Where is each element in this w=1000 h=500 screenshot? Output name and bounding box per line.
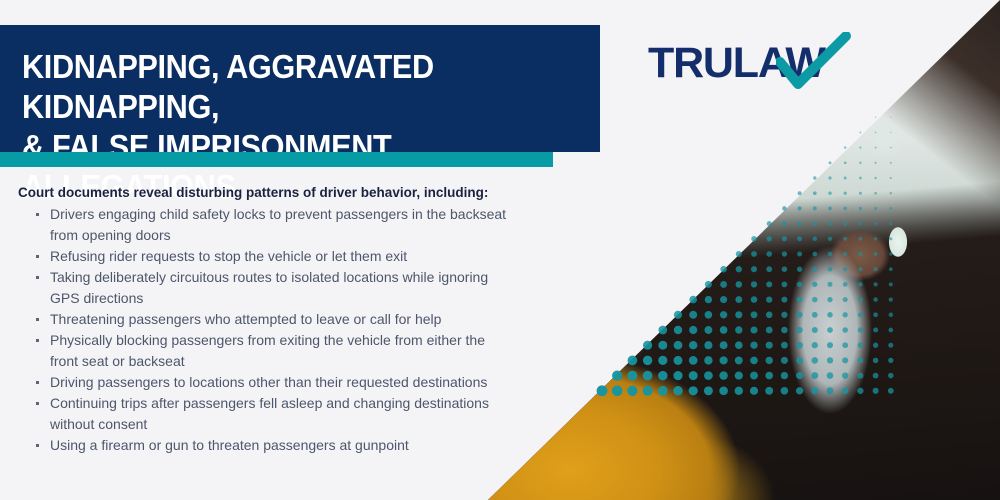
allegation-bullet-list: Drivers engaging child safety locks to p… xyxy=(18,204,513,456)
lead-paragraph: Court documents reveal disturbing patter… xyxy=(18,184,513,201)
page-title: KIDNAPPING, AGGRAVATED KIDNAPPING, & FAL… xyxy=(22,47,543,207)
teal-accent-bar xyxy=(0,152,553,167)
checkmark-icon xyxy=(776,32,852,94)
list-item: Drivers engaging child safety locks to p… xyxy=(35,204,513,246)
list-item: Taking deliberately circuitous routes to… xyxy=(35,267,513,309)
list-item: Physically blocking passengers from exit… xyxy=(35,330,513,372)
list-item: Refusing rider requests to stop the vehi… xyxy=(35,246,513,267)
list-item: Threatening passengers who attempted to … xyxy=(35,309,513,330)
body-copy: Court documents reveal disturbing patter… xyxy=(18,184,513,456)
infographic-root: KIDNAPPING, AGGRAVATED KIDNAPPING, & FAL… xyxy=(0,0,1000,500)
title-banner: KIDNAPPING, AGGRAVATED KIDNAPPING, & FAL… xyxy=(0,25,600,152)
list-item: Driving passengers to locations other th… xyxy=(35,372,513,393)
list-item: Using a firearm or gun to threaten passe… xyxy=(35,435,513,456)
list-item: Continuing trips after passengers fell a… xyxy=(35,393,513,435)
trulaw-logo[interactable]: TRULAW xyxy=(648,36,858,96)
